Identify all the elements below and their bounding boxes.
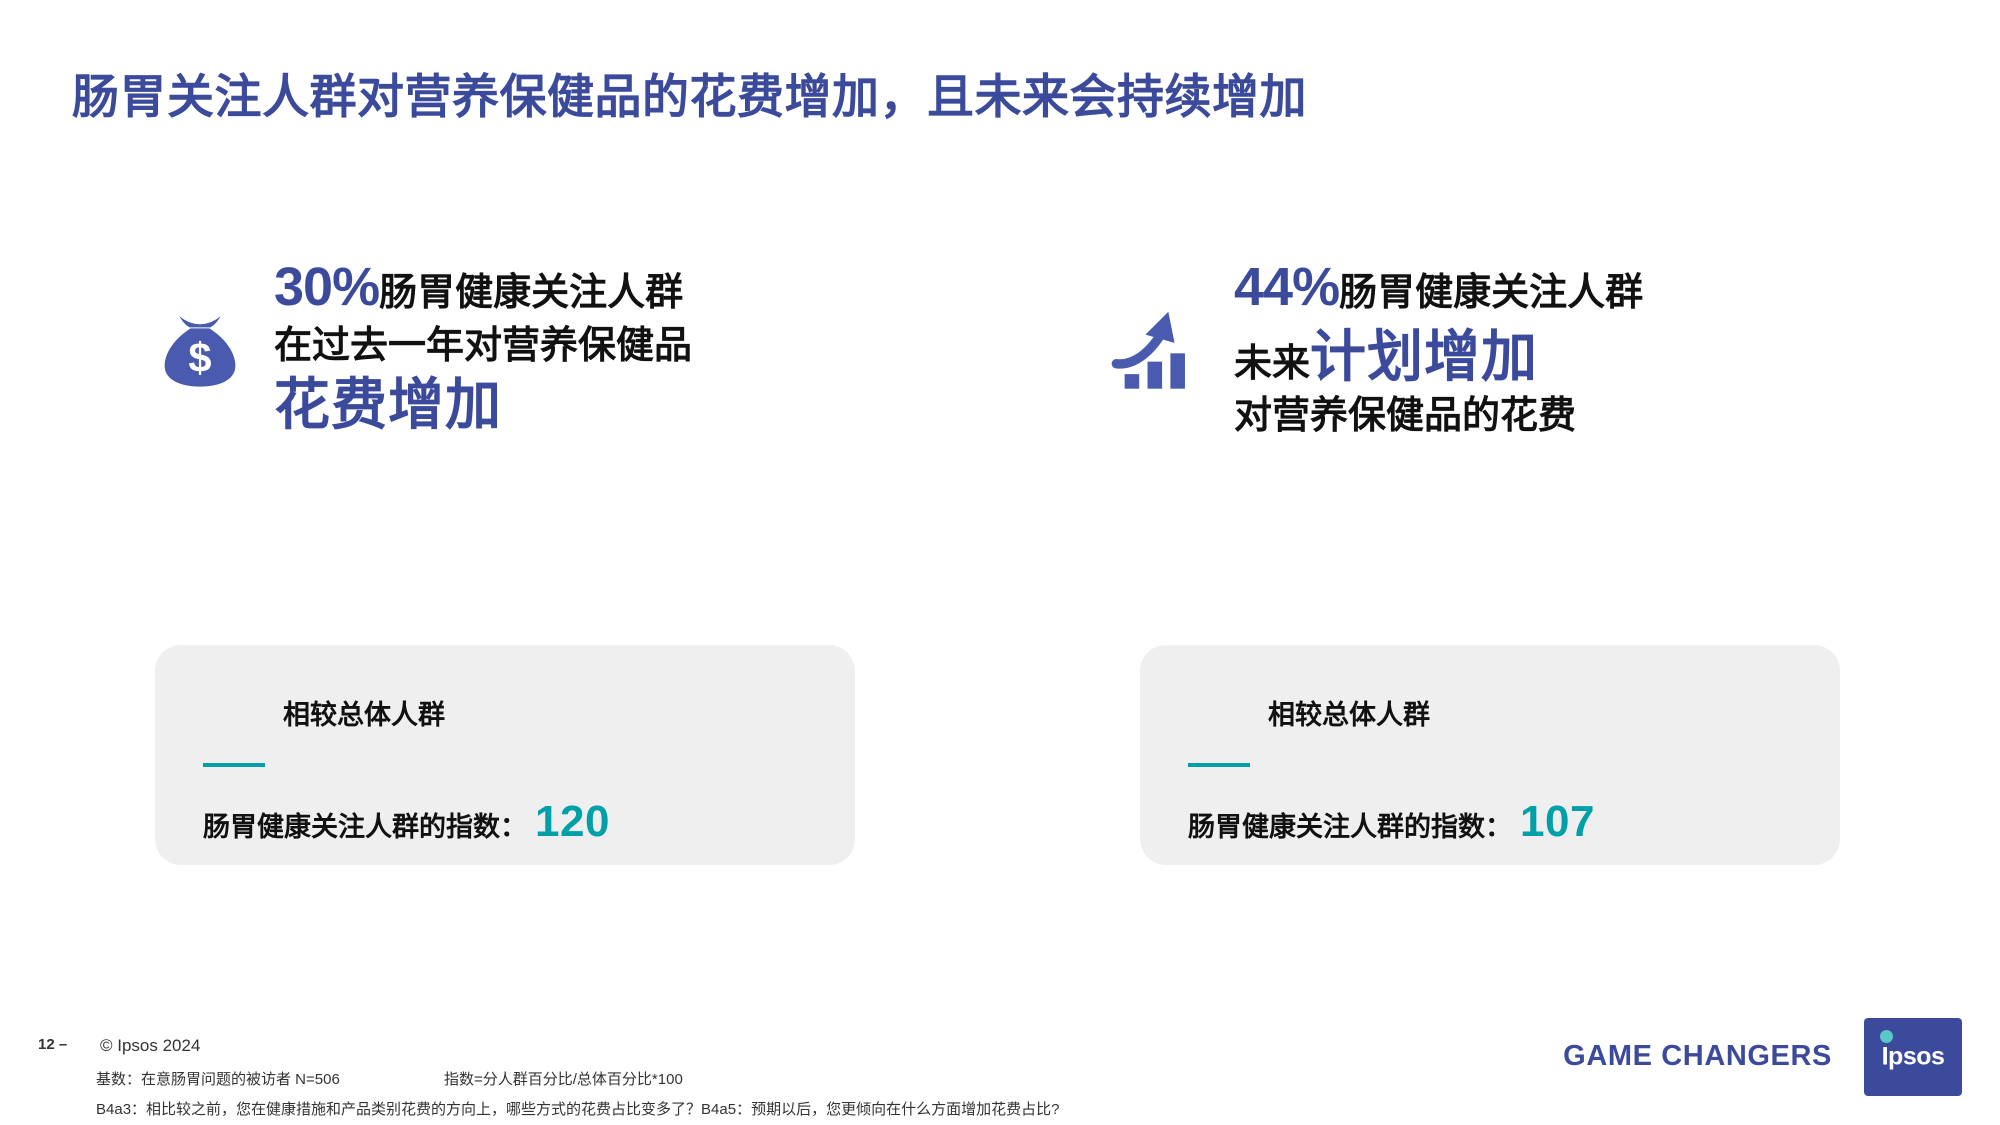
- logo-dot-icon: [1880, 1030, 1893, 1043]
- stat-line-3: 花费增加: [274, 371, 860, 439]
- stat-row: $ 30%肠胃健康关注人群 在过去一年对营养保健品 花费增加: [140, 255, 860, 440]
- stat-line-1: 30%肠胃健康关注人群: [274, 255, 860, 321]
- stat-panel-left: $ 30%肠胃健康关注人群 在过去一年对营养保健品 花费增加: [140, 255, 860, 440]
- stat-line-2-highlight: 计划增加: [1310, 325, 1538, 388]
- stat-line-2-label: 在过去一年对营养保健品: [274, 325, 692, 367]
- stat-line-3-label: 对营养保健品的花费: [1234, 395, 1576, 437]
- growth-chart-arrow-icon: [1100, 255, 1220, 397]
- base-note: 基数：在意肠胃问题的被访者 N=506: [96, 1068, 340, 1089]
- stat-text-right: 44%肠胃健康关注人群 未来计划增加 对营养保健品的花费: [1220, 255, 1820, 440]
- index-metric-value: 107: [1520, 797, 1595, 847]
- stat-line-1-label: 肠胃健康关注人群: [379, 272, 683, 314]
- ipsos-logo: Ipsos: [1864, 1018, 1962, 1096]
- ipsos-logo-text: Ipsos: [1882, 1043, 1945, 1072]
- stat-line-3: 对营养保健品的花费: [1234, 393, 1820, 439]
- index-definition-note: 指数=分人群百分比/总体百分比*100: [444, 1068, 683, 1089]
- index-card-heading: 相较总体人群: [283, 693, 445, 732]
- index-metric-label: 肠胃健康关注人群的指数：: [203, 805, 527, 844]
- stat-text-left: 30%肠胃健康关注人群 在过去一年对营养保健品 花费增加: [260, 255, 860, 440]
- stat-line-2-prefix: 未来: [1234, 343, 1310, 385]
- money-bag-icon: $: [140, 255, 260, 397]
- index-card-left: 相较总体人群 肠胃健康关注人群的指数： 120: [155, 645, 855, 865]
- question-note: B4a3：相比较之前，您在健康措施和产品类别花费的方向上，哪些方式的花费占比变多…: [96, 1098, 1059, 1119]
- stat-percent: 44%: [1234, 257, 1339, 317]
- svg-text:$: $: [188, 334, 211, 381]
- teal-divider: [1188, 763, 1250, 767]
- index-metric-value: 120: [535, 797, 610, 847]
- stat-percent: 30%: [274, 257, 379, 317]
- stat-line-2: 在过去一年对营养保健品: [274, 323, 860, 369]
- index-metric: 肠胃健康关注人群的指数： 120: [203, 797, 610, 847]
- teal-divider: [203, 763, 265, 767]
- stat-line-1: 44%肠胃健康关注人群: [1234, 255, 1820, 321]
- index-card-heading: 相较总体人群: [1268, 693, 1430, 732]
- brand-tagline: GAME CHANGERS: [1563, 1040, 1832, 1073]
- stat-line-1-label: 肠胃健康关注人群: [1339, 272, 1643, 314]
- stat-row: 44%肠胃健康关注人群 未来计划增加 对营养保健品的花费: [1100, 255, 1820, 440]
- stat-panel-right: 44%肠胃健康关注人群 未来计划增加 对营养保健品的花费: [1100, 255, 1820, 440]
- copyright-notice: © Ipsos 2024: [100, 1036, 200, 1056]
- page-number: 12 –: [38, 1036, 67, 1053]
- stat-line-2: 未来计划增加: [1234, 323, 1820, 391]
- stat-line-3-highlight: 花费增加: [274, 373, 502, 436]
- index-metric-label: 肠胃健康关注人群的指数：: [1188, 805, 1512, 844]
- page-title: 肠胃关注人群对营养保健品的花费增加，且未来会持续增加: [72, 58, 1307, 127]
- index-metric: 肠胃健康关注人群的指数： 107: [1188, 797, 1595, 847]
- index-card-right: 相较总体人群 肠胃健康关注人群的指数： 107: [1140, 645, 1840, 865]
